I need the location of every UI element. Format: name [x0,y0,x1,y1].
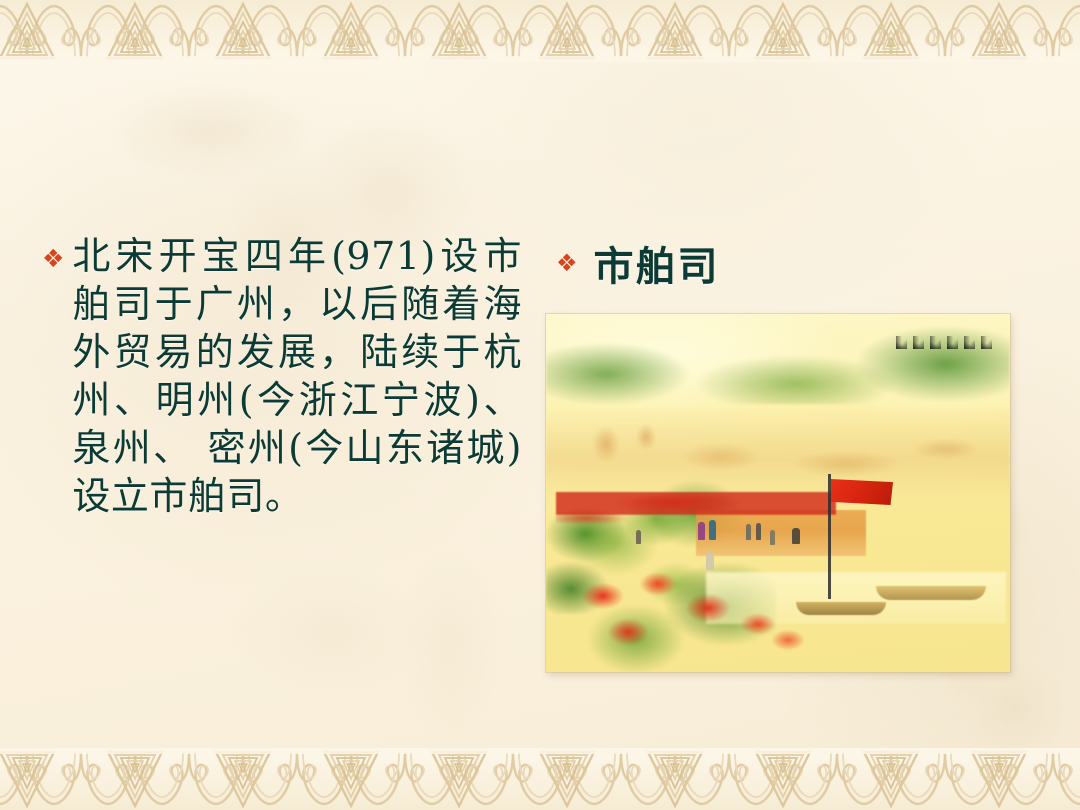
top-decorative-border [0,0,1080,62]
painting-flag-pole [828,474,831,599]
painting-boat-two [876,586,986,600]
slide: ❖ 北宋开宝四年(971)设市舶司于广州，以后随着海外贸易的发展，陆续于杭州、明… [0,0,1080,810]
painting-figure [706,552,714,570]
painting-red-blossom-tree [558,566,808,661]
painting-boat-one [796,602,886,615]
painting-red-roofs [556,492,836,562]
painting-foreground-grass [546,314,1010,404]
painting-figure [709,520,716,540]
diamond-bullet-icon: ❖ [42,246,64,271]
section-heading: ❖ 市舶司 [556,234,720,292]
background-watermark-middle [150,520,530,750]
painting-figure [756,523,761,540]
painting-figure [792,528,800,544]
painting-figure [698,522,705,540]
painting-figure [770,530,775,545]
painting-figure [746,524,751,540]
historical-painting-image [546,314,1010,672]
bottom-decorative-border [0,748,1080,810]
body-paragraph: 北宋开宝四年(971)设市舶司于广州，以后随着海外贸易的发展，陆续于杭州、明州(… [72,232,522,520]
body-bullet-item: ❖ 北宋开宝四年(971)设市舶司于广州，以后随着海外贸易的发展，陆续于杭州、明… [42,232,522,520]
heading-diamond-bullet-icon: ❖ [556,251,578,275]
painting-title-calligraphy [896,336,992,349]
painting-red-flag [831,479,893,505]
painting-figure [636,530,641,544]
heading-label: 市舶司 [594,234,720,292]
